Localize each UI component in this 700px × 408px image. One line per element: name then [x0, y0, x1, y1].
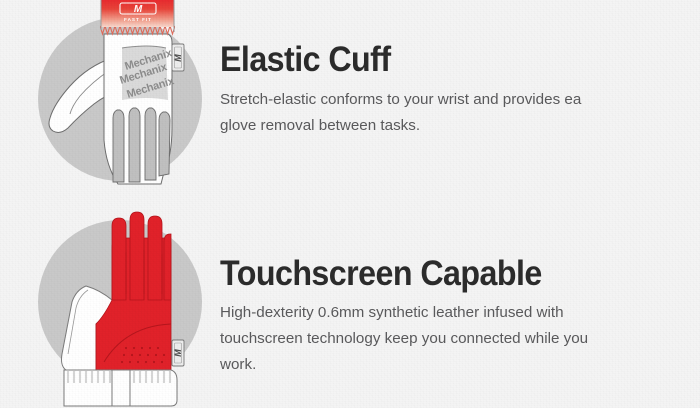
side-tag: M: [172, 340, 184, 366]
cuff-sublabel: FAST FIT: [124, 17, 152, 22]
illustration-column-touchscreen: M: [0, 204, 220, 408]
finger-index: [112, 218, 126, 300]
page-title-touchscreen: Touchscreen Capable: [220, 256, 662, 291]
finger-pinky: [164, 234, 171, 300]
body-line: work.: [220, 352, 700, 378]
body-line: Stretch-elastic conforms to your wrist a…: [220, 87, 700, 113]
side-tag-mark: M: [173, 54, 183, 62]
body-copy-elastic-cuff: Stretch-elastic conforms to your wrist a…: [220, 87, 700, 139]
body-line: High-dexterity 0.6mm synthetic leather i…: [220, 300, 700, 326]
cuff-center-strap: [112, 370, 130, 406]
text-column-elastic-cuff: Elastic Cuff Stretch-elastic conforms to…: [220, 0, 700, 204]
glove-back-view-illustration: Mechanix Mechanix Mechanix M FAST FIT: [0, 0, 220, 204]
illustration-column-elastic-cuff: Mechanix Mechanix Mechanix M FAST FIT: [0, 0, 220, 204]
text-column-touchscreen: Touchscreen Capable High-dexterity 0.6mm…: [220, 204, 700, 408]
finger-ring: [148, 216, 162, 300]
feature-block-elastic-cuff: Mechanix Mechanix Mechanix M FAST FIT: [0, 0, 700, 204]
feature-block-touchscreen: M Touchscreen Capable High-dexterity 0.6…: [0, 204, 700, 408]
finger-middle: [130, 212, 144, 300]
page-title-elastic-cuff: Elastic Cuff: [220, 42, 662, 77]
body-line: touchscreen technology keep you connecte…: [220, 326, 700, 352]
side-tag-mark: M: [173, 349, 183, 357]
cuff-brand-mark: M: [134, 4, 143, 15]
glove-palm-view-illustration: M: [0, 204, 220, 408]
side-tag: M: [172, 44, 184, 71]
body-copy-touchscreen: High-dexterity 0.6mm synthetic leather i…: [220, 300, 700, 378]
body-line: glove removal between tasks.: [220, 113, 700, 139]
